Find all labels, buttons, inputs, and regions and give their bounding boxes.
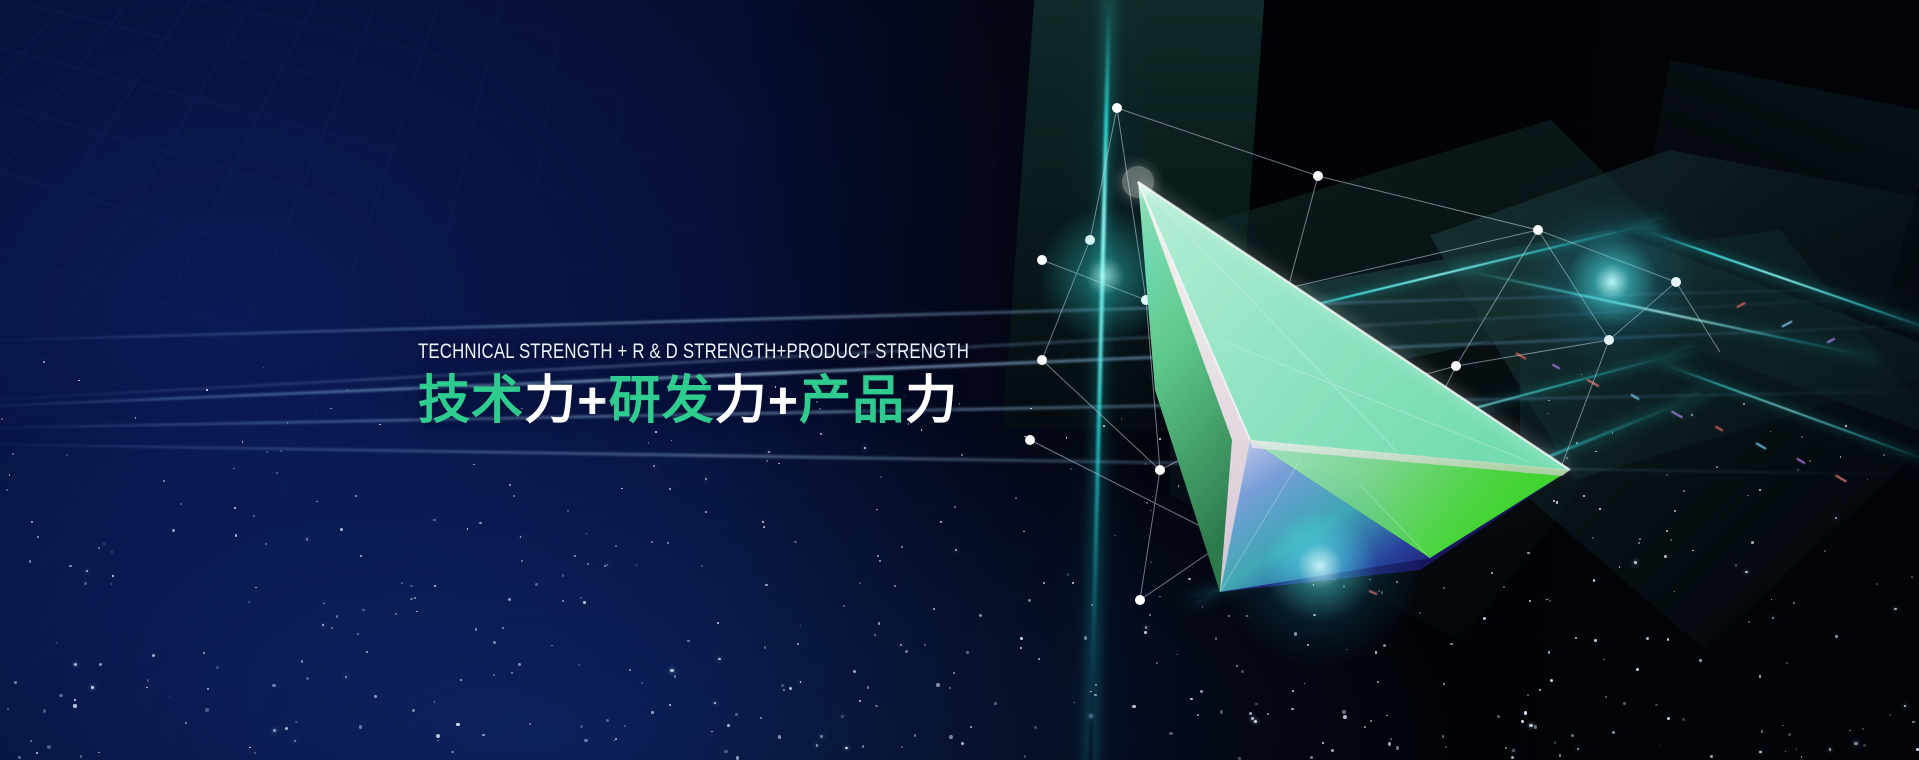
banner-headline: 技术力+研发力+产品力 [418, 372, 1178, 430]
arrow-prism-graphic [1100, 140, 1620, 620]
headline-part-4: 力 [715, 372, 768, 430]
headline-part-2: + [577, 372, 608, 430]
headline-part-7: 力 [905, 372, 958, 430]
headline-part-6: 产品 [799, 372, 905, 430]
banner-eyebrow: TECHNICAL STRENGTH + R & D STRENGTH+PROD… [418, 340, 1026, 364]
hero-banner: TECHNICAL STRENGTH + R & D STRENGTH+PROD… [0, 0, 1919, 760]
headline-part-3: 研发 [609, 372, 715, 430]
headline-part-1: 力 [524, 372, 577, 430]
banner-copy: TECHNICAL STRENGTH + R & D STRENGTH+PROD… [418, 340, 1178, 430]
headline-part-5: + [768, 372, 799, 430]
headline-part-0: 技术 [418, 372, 524, 430]
